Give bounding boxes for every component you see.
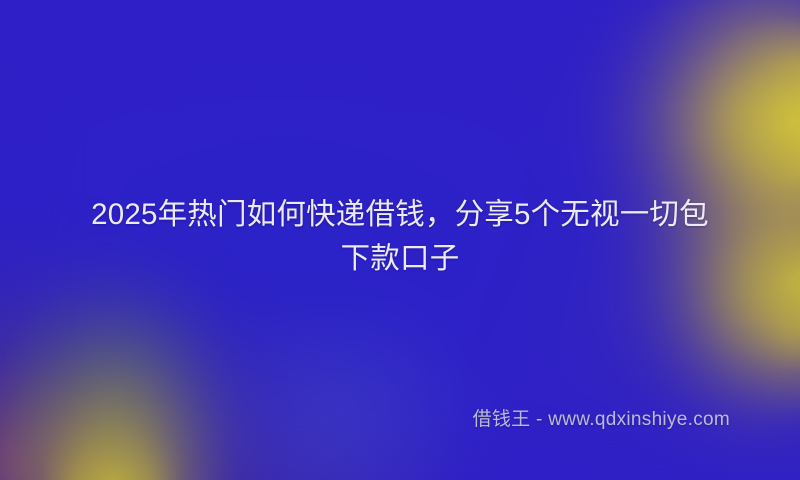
article-banner: 2025年热门如何快递借钱，分享5个无视一切包 下款口子 借钱王 - www.q… <box>0 0 800 480</box>
article-title: 2025年热门如何快递借钱，分享5个无视一切包 下款口子 <box>50 193 750 281</box>
site-watermark: 借钱王 - www.qdxinshiye.com <box>473 408 730 432</box>
banner-content: 2025年热门如何快递借钱，分享5个无视一切包 下款口子 借钱王 - www.q… <box>0 0 800 480</box>
